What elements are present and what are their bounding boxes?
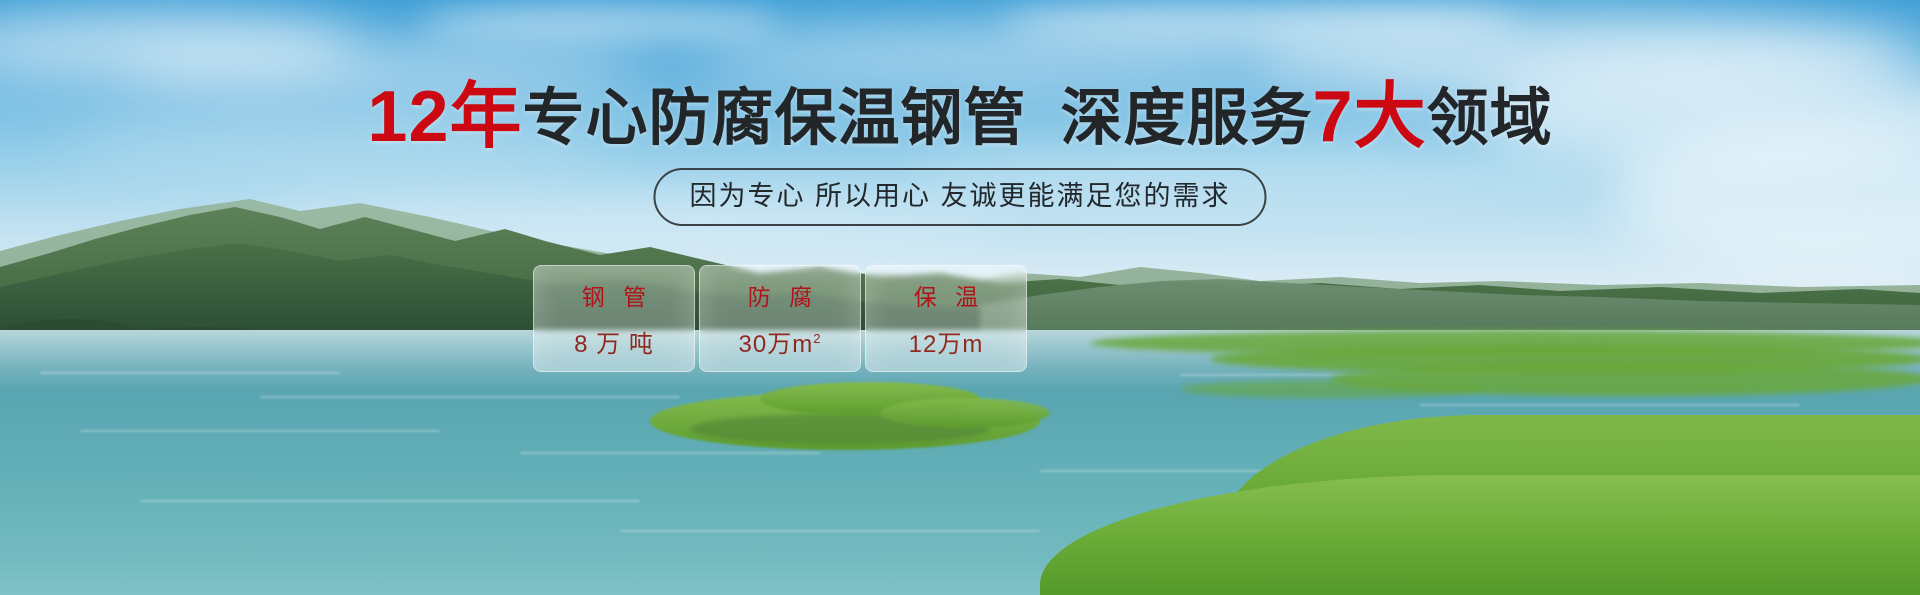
stat-card-value: 12万m <box>909 324 984 359</box>
stat-value-main: 12万m <box>909 331 984 358</box>
headline-fields-count: 7大 <box>1313 77 1427 157</box>
stat-value-main: 8 万 吨 <box>574 331 654 358</box>
stat-card-value: 8 万 吨 <box>574 324 654 359</box>
page-title: 12年专心防腐保温钢管深度服务7大领域 <box>0 84 1920 152</box>
promo-banner: 12年专心防腐保温钢管深度服务7大领域 因为专心 所以用心 友诚更能满足您的需求… <box>0 0 1920 595</box>
subtitle-text: 因为专心 所以用心 友诚更能满足您的需求 <box>689 181 1230 211</box>
stat-card-title: 钢 管 <box>576 278 652 312</box>
stat-card-steel-pipe[interactable]: 钢 管 8 万 吨 <box>533 265 695 372</box>
water-ripple <box>1420 404 1800 406</box>
water-ripple <box>80 430 440 432</box>
stat-card-title: 保 温 <box>908 278 984 312</box>
water-ripple <box>520 452 820 454</box>
stat-card-value: 30万m2 <box>739 324 822 359</box>
cloud-shape <box>420 6 780 40</box>
water-ripple <box>40 372 340 374</box>
subtitle-pill: 因为专心 所以用心 友诚更能满足您的需求 <box>653 168 1266 226</box>
headline-years: 12年 <box>367 77 522 157</box>
stat-card-insulation[interactable]: 保 温 12万m <box>865 265 1027 372</box>
headline-main: 专心防腐保温钢管 <box>523 84 1027 153</box>
stat-value-main: 30万m <box>739 331 814 358</box>
stat-value-superscript: 2 <box>813 331 821 346</box>
stat-card-anticorrosion[interactable]: 防 腐 30万m2 <box>699 265 861 372</box>
stat-cards: 钢 管 8 万 吨 防 腐 30万m2 保 温 12万m <box>533 265 1027 372</box>
lake-island <box>880 398 1050 428</box>
water-ripple <box>620 530 1040 532</box>
marsh-patch <box>1180 380 1480 398</box>
headline-service: 深度服务 <box>1061 84 1313 153</box>
water-ripple <box>260 396 680 398</box>
stat-card-title: 防 腐 <box>742 278 818 312</box>
headline-fields: 领域 <box>1427 84 1553 153</box>
water-ripple <box>140 500 640 502</box>
